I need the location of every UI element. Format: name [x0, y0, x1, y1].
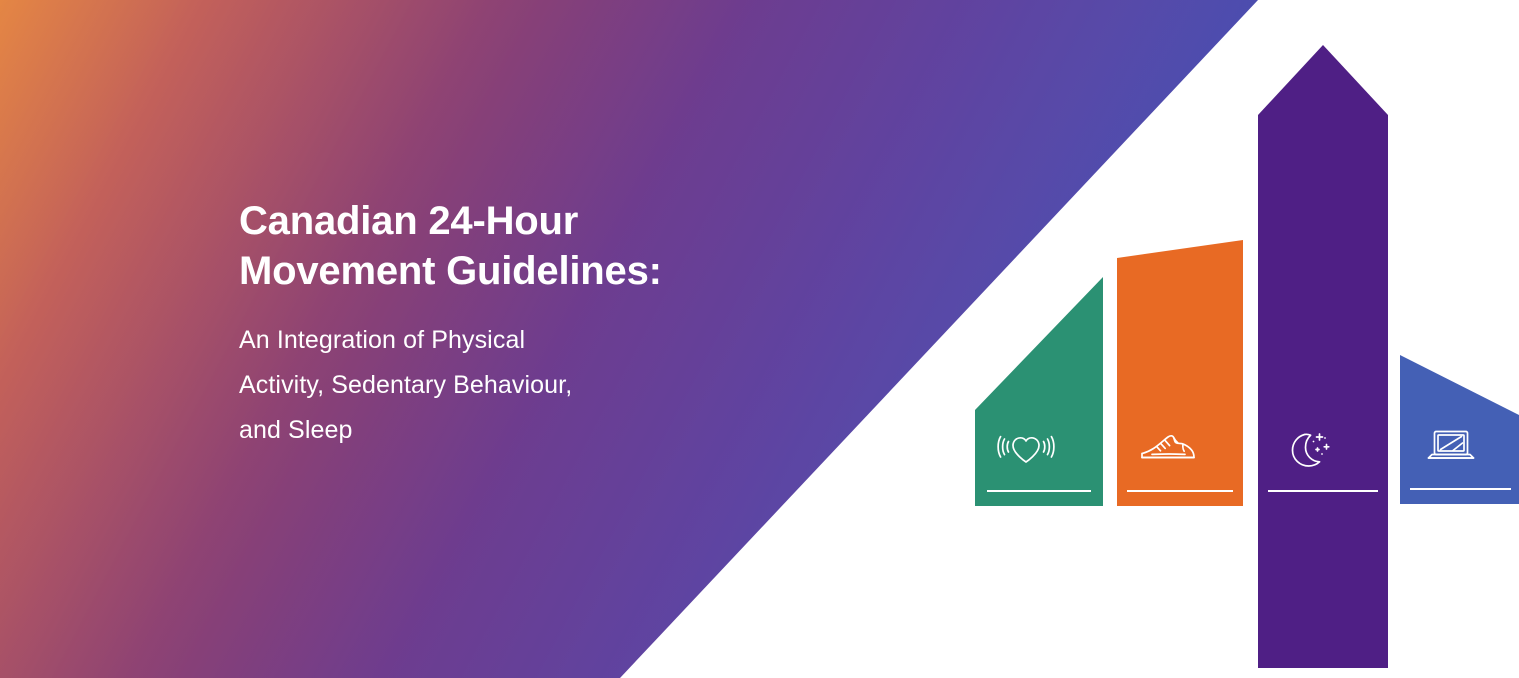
bar-shape-physical-activity	[975, 277, 1103, 506]
crescent-moon-stars-icon	[1280, 424, 1338, 468]
laptop-icon	[1422, 422, 1480, 466]
bar-movement	[1117, 240, 1243, 506]
bar-underline-movement	[1127, 490, 1233, 492]
bar-underline-sleep	[1268, 490, 1378, 492]
bar-chart-graphic	[0, 0, 1519, 678]
bar-physical-activity	[975, 277, 1103, 506]
heartbeat-icon	[997, 424, 1055, 468]
banner-hero: Canadian 24-Hour Movement Guidelines: An…	[0, 0, 1519, 678]
bar-screen-time	[1400, 355, 1519, 504]
running-shoe-icon	[1139, 424, 1197, 468]
bar-shape-sleep	[1258, 45, 1388, 668]
bar-sleep	[1258, 45, 1388, 668]
bar-underline-physical-activity	[987, 490, 1091, 492]
bar-underline-screen-time	[1410, 488, 1511, 490]
